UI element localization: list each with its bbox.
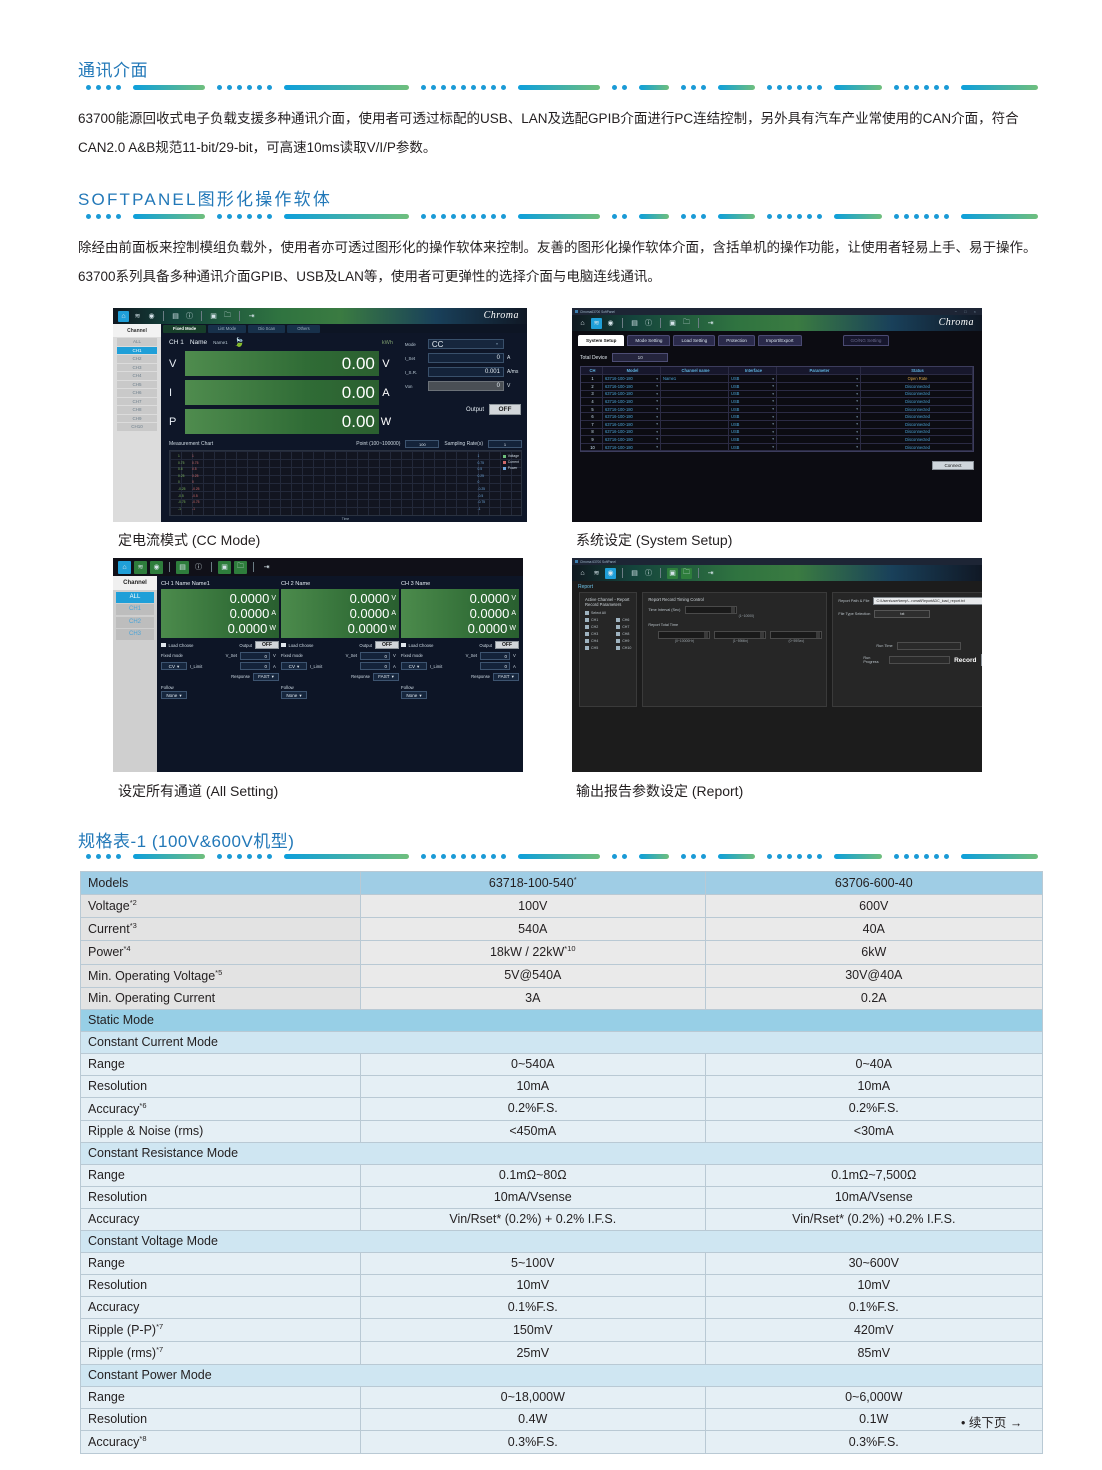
ss-table-row[interactable]: 463716-100-180▾USB▾▾Disconnected (581, 398, 973, 406)
as-vset-input[interactable]: 0 (360, 652, 390, 660)
spec-row-sub: Ripple (rms)*725mV85mV (81, 1342, 1043, 1365)
ss-cell-status[interactable]: Disconnected (861, 444, 973, 451)
spec-row-label: Range (81, 1053, 361, 1075)
report-icon[interactable]: ▤ (629, 318, 640, 329)
chevron-down-icon[interactable]: ▾ (772, 430, 774, 434)
divider-dot (701, 214, 706, 219)
chevron-down-icon[interactable]: ▾ (856, 377, 858, 381)
ss-cell-name[interactable] (661, 429, 729, 436)
ss-cell-parameter[interactable]: ▾ (777, 421, 861, 428)
ss-cell-parameter[interactable]: ▾ (777, 444, 861, 451)
spec-row-label: Resolution (81, 1186, 361, 1208)
ss-tab-load-setting[interactable]: Load Setting (673, 335, 715, 346)
chevron-down-icon[interactable]: ▾ (656, 445, 658, 449)
ss-cell-status[interactable]: Disconnected (861, 436, 973, 443)
globe-icon[interactable]: ◉ (605, 568, 616, 579)
chevron-down-icon[interactable]: ▾ (656, 384, 658, 388)
as-response-select[interactable]: FAST ▾ (493, 673, 519, 681)
info-icon[interactable]: ⓘ (643, 318, 654, 329)
cc-tab-fixed-mode[interactable]: Fixed Mode (163, 325, 206, 333)
checkbox-icon[interactable] (401, 643, 406, 648)
divider-dot (691, 214, 696, 219)
divider-dot (767, 214, 772, 219)
as-sidebar-item-ch1[interactable]: CH1 (116, 604, 154, 615)
divider-dot (471, 854, 476, 859)
ss-connect-button[interactable]: Connect (932, 461, 974, 470)
divider-dash (133, 85, 205, 90)
divider-dot (257, 214, 262, 219)
spinner-arrows[interactable] (760, 632, 764, 638)
chevron-down-icon[interactable]: ▾ (772, 399, 774, 403)
chevron-down-icon[interactable]: ▾ (656, 430, 658, 434)
globe-icon[interactable]: ◉ (146, 311, 157, 322)
cc-sidebar-item-ch10[interactable]: CH10 (117, 423, 157, 431)
ss-cell-ch[interactable]: 10 (581, 444, 603, 451)
ss-cell-interface[interactable]: USB▾ (729, 406, 777, 413)
ss-cell-model[interactable]: 63716-100-180▾ (603, 375, 661, 382)
ss-table-row[interactable]: 763716-100-180▾USB▾▾Disconnected (581, 421, 973, 429)
rp-total-time-spinner[interactable] (658, 631, 710, 639)
spinner-arrows[interactable] (731, 607, 735, 613)
ss-cell-name[interactable]: Name1 (661, 375, 729, 382)
chevron-down-icon[interactable]: ▾ (656, 407, 658, 411)
cc-field-unit: V (507, 383, 523, 389)
ss-cell-ch[interactable]: 6 (581, 413, 603, 420)
chevron-down-icon[interactable]: ▾ (512, 673, 514, 680)
as-follow-label: Follow (161, 685, 279, 690)
save-icon[interactable]: ▣ (667, 568, 678, 579)
spec-row-sub: Resolution10mA10mA (81, 1075, 1043, 1097)
ss-cell-name[interactable] (661, 444, 729, 451)
rp-channel-checkbox-ch2[interactable]: CH2 (585, 625, 598, 629)
chevron-down-icon[interactable]: ▾ (179, 692, 181, 699)
ss-cell-parameter[interactable]: ▾ (777, 406, 861, 413)
chevron-down-icon[interactable]: ▾ (656, 392, 658, 396)
ss-cell-model[interactable]: 63716-100-180▾ (603, 444, 661, 451)
as-mode-select[interactable]: CV ▾ (401, 662, 427, 670)
ss-table-row[interactable]: 163716-100-180▾Name1USB▾▾Open Rate (581, 375, 973, 383)
rp-panels: Active Channel - Report Record Parameter… (572, 592, 982, 707)
as-body: Channel ALLCH1CH2CH3 CH 1 Name Name10.00… (113, 576, 523, 772)
ss-table-row[interactable]: 963716-100-180▾USB▾▾Disconnected (581, 436, 973, 444)
checkbox-icon[interactable] (161, 643, 166, 648)
cc-tab-dio-scan[interactable]: Dio Scan (248, 325, 285, 333)
checkbox-icon[interactable] (281, 643, 286, 648)
ss-cell-ch[interactable]: 5 (581, 406, 603, 413)
chevron-down-icon[interactable]: ▾ (772, 445, 774, 449)
window-controls[interactable]: − □ × (955, 309, 979, 314)
divider-dot (471, 214, 476, 219)
as-reading-unit: W (269, 621, 276, 636)
chevron-down-icon[interactable]: ▾ (297, 663, 299, 670)
ss-cell-model[interactable]: 63716-100-180▾ (603, 413, 661, 420)
ss-cell-interface[interactable]: USB▾ (729, 375, 777, 382)
ss-cell-status[interactable]: Disconnected (861, 391, 973, 398)
rp-total-time-spinner[interactable] (770, 631, 822, 639)
ss-cell-interface[interactable]: USB▾ (729, 444, 777, 451)
ss-table-row[interactable]: 863716-100-180▾USB▾▾Disconnected (581, 429, 973, 437)
rp-channel-label: CH1 (591, 618, 598, 622)
folder-icon[interactable]: 🗀 (681, 568, 692, 579)
rp-record-toggle[interactable]: OFF (981, 654, 983, 666)
ss-cell-status[interactable]: Disconnected (861, 383, 973, 390)
cc-chart-title: Measurement Chart (169, 441, 213, 447)
as-output-toggle[interactable]: OFF (495, 641, 519, 649)
ss-table-row[interactable]: 263716-100-180▾USB▾▾Disconnected (581, 383, 973, 391)
as-vset-unit: V (393, 653, 399, 658)
rp-channel-checkbox-ch9[interactable]: CH9 (616, 639, 631, 643)
divider-dot (797, 854, 802, 859)
chevron-down-icon[interactable]: ▾ (772, 384, 774, 388)
rp-select-all-checkbox[interactable]: Select All (585, 611, 631, 615)
as-sidebar-item-ch2[interactable]: CH2 (116, 617, 154, 628)
rp-time-interval-spinner[interactable] (685, 606, 737, 614)
ss-cell-name[interactable] (661, 421, 729, 428)
ss-cell-parameter[interactable]: ▾ (777, 391, 861, 398)
ss-cell-ch[interactable]: 2 (581, 383, 603, 390)
as-follow-select[interactable]: None ▾ (281, 691, 307, 699)
rp-total-time-group: (0~59Sec) (770, 631, 822, 643)
ss-cell-parameter[interactable]: ▾ (777, 436, 861, 443)
rp-path-input[interactable]: C:\Users\user\temp\...romal\ReportADC_lo… (873, 597, 982, 605)
screenshot-report: Chroma 63700 SoftPanel ⌂ ≋ ◉ ▤ ⓘ ▣ 🗀 ⇥ R… (572, 558, 982, 772)
chevron-down-icon[interactable]: ▾ (419, 692, 421, 699)
spec-value-model-1: 5~100V (361, 1252, 706, 1274)
ss-table-row[interactable]: 1063716-100-180▾USB▾▾Disconnected (581, 444, 973, 452)
ss-cell-model[interactable]: 63716-100-180▾ (603, 383, 661, 390)
ss-cell-name[interactable] (661, 406, 729, 413)
chevron-down-icon[interactable]: ▾ (656, 422, 658, 426)
cc-axis-tick: -0.25 (477, 486, 485, 493)
divider-dot (491, 214, 496, 219)
divider-1 (78, 84, 1042, 90)
checkbox-icon (585, 632, 589, 636)
chevron-down-icon[interactable]: ▾ (392, 673, 394, 680)
cc-sidebar-item-ch2[interactable]: CH2 (117, 355, 157, 363)
cc-meter-unit: A (379, 387, 393, 399)
home-icon[interactable]: ⌂ (577, 568, 588, 579)
rp-total-time-spinner[interactable] (714, 631, 766, 639)
ss-cell-status[interactable]: Disconnected (861, 398, 973, 405)
ss-cell-model[interactable]: 63716-100-180▾ (603, 391, 661, 398)
save-icon[interactable]: ▣ (208, 311, 219, 322)
as-mode-select[interactable]: CV ▾ (161, 662, 187, 670)
cc-output-toggle[interactable]: OFF (489, 404, 521, 415)
folder-icon[interactable]: 🗀 (681, 318, 692, 329)
chevron-down-icon[interactable]: ▾ (856, 384, 858, 388)
spec-row-sub: Resolution10mV10mV (81, 1274, 1043, 1296)
cc-meter-label: V (169, 358, 185, 370)
ss-tab-import-export[interactable]: Import/Export (758, 335, 802, 346)
ss-cell-status[interactable]: Disconnected (861, 429, 973, 436)
ss-cell-status-text: Open Rate (908, 376, 928, 381)
ss-tab-mode-setting[interactable]: Mode Setting (627, 335, 670, 346)
ss-cell-name[interactable] (661, 391, 729, 398)
cc-tab-list-mode[interactable]: List Mode (208, 325, 246, 333)
divider-dot (777, 854, 782, 859)
globe-icon[interactable]: ◉ (605, 318, 616, 329)
cc-plot[interactable]: 10.750.50.250-0.25-0.5-0.75-1 10.750.50.… (169, 450, 522, 516)
ss-cell-parameter[interactable]: ▾ (777, 383, 861, 390)
wave-icon[interactable]: ≋ (591, 318, 602, 329)
rp-channel-checkbox-ch8[interactable]: CH8 (616, 632, 631, 636)
divider-dot (612, 214, 617, 219)
divider-dash (518, 85, 600, 90)
chevron-down-icon[interactable]: ▾ (856, 407, 858, 411)
divider-dot (257, 854, 262, 859)
spec-value-model-2: 10mA/Vsense (705, 1186, 1042, 1208)
cc-sidebar-item-ch4[interactable]: CH4 (117, 372, 157, 380)
checkbox-icon (616, 625, 620, 629)
ss-total-device-select[interactable]: 10 (612, 353, 668, 362)
ss-cell-model[interactable]: 63716-100-180▾ (603, 406, 661, 413)
ss-cell-status[interactable]: Disconnected (861, 406, 973, 413)
divider-dash (961, 214, 1038, 219)
spec-value-model-2: 10mV (705, 1274, 1042, 1296)
chevron-down-icon[interactable]: ▾ (772, 407, 774, 411)
divider-dot (934, 214, 939, 219)
ss-total-device-row: Total Device 10 (572, 346, 982, 366)
ss-cell-name[interactable] (661, 436, 729, 443)
chevron-down-icon[interactable]: ▾ (496, 340, 498, 349)
info-icon[interactable]: ⓘ (643, 568, 654, 579)
as-follow-select[interactable]: None ▾ (401, 691, 427, 699)
as-mode-select[interactable]: CV ▾ (281, 662, 307, 670)
cc-sidebar-item-ch6[interactable]: CH6 (117, 389, 157, 397)
chevron-down-icon[interactable]: ▾ (856, 422, 858, 426)
chevron-down-icon[interactable]: ▾ (772, 422, 774, 426)
home-icon[interactable]: ⌂ (118, 311, 129, 322)
save-icon[interactable]: ▣ (218, 561, 231, 574)
ss-cell-parameter[interactable]: ▾ (777, 398, 861, 405)
spec-row-label: Current*3 (81, 918, 361, 941)
rp-channel-checkbox-ch7[interactable]: CH7 (616, 625, 631, 629)
chevron-down-icon[interactable]: ▾ (772, 377, 774, 381)
spec-value-model-2: Vin/Rset* (0.2%) +0.2% I.F.S. (705, 1208, 1042, 1230)
as-response-select[interactable]: FAST ▾ (253, 673, 279, 681)
cc-field-input[interactable]: 0 (428, 353, 504, 363)
cc-meter-bar: 0.00 (185, 380, 379, 405)
as-vset-input[interactable]: 0 (240, 652, 270, 660)
report-icon[interactable]: ▤ (176, 561, 189, 574)
cc-meter-bar: 0.00 (185, 351, 379, 376)
as-output-toggle[interactable]: OFF (255, 641, 279, 649)
divider-dot (421, 854, 426, 859)
as-follow-select[interactable]: None ▾ (161, 691, 187, 699)
rp-channel-checkbox-ch1[interactable]: CH1 (585, 618, 598, 622)
divider-dot (807, 214, 812, 219)
divider-dots (894, 85, 949, 90)
chevron-down-icon[interactable]: ▾ (856, 430, 858, 434)
chevron-down-icon[interactable]: ▾ (656, 415, 658, 419)
ss-cell-parameter[interactable]: ▾ (777, 375, 861, 382)
ss-tab-system-setup[interactable]: System Setup (578, 335, 624, 346)
chevron-down-icon[interactable]: ▾ (856, 445, 858, 449)
spinner-arrows[interactable] (816, 632, 820, 638)
wave-icon[interactable]: ≋ (132, 311, 143, 322)
ss-cell-ch[interactable]: 7 (581, 421, 603, 428)
folder-icon[interactable]: 🗀 (222, 311, 233, 322)
as-ilimit-input[interactable]: 0 (240, 662, 270, 670)
logout-icon[interactable]: ⇥ (246, 311, 257, 322)
ss-cell-model[interactable]: 63716-100-180▾ (603, 398, 661, 405)
as-ilimit-input[interactable]: 0 (360, 662, 390, 670)
divider-dots (894, 854, 949, 859)
divider-2 (78, 213, 1042, 219)
as-reading-value: 0.0000 (350, 606, 390, 621)
report-icon[interactable]: ▤ (170, 311, 181, 322)
folder-icon[interactable]: 🗀 (234, 561, 247, 574)
divider-dots (767, 854, 822, 859)
ss-cell-interface[interactable]: USB▾ (729, 436, 777, 443)
chevron-down-icon[interactable]: ▾ (856, 399, 858, 403)
chevron-down-icon[interactable]: ▾ (656, 377, 658, 381)
as-channel-column: CH 3 Name0.0000V0.0000A0.0000WLoad Choos… (401, 581, 519, 699)
spec-value-model-1: 100V (361, 895, 706, 918)
spec-section-label: Constant Current Mode (81, 1031, 1043, 1053)
ss-tab-protection[interactable]: Protection (718, 335, 755, 346)
ss-tab-gong-setting[interactable]: GO/NG Setting (843, 335, 890, 346)
ss-cell-model[interactable]: 63716-100-180▾ (603, 436, 661, 443)
ss-cell-parameter[interactable]: ▾ (777, 429, 861, 436)
ss-cell-ch[interactable]: 1 (581, 375, 603, 382)
chevron-down-icon[interactable]: ▾ (299, 692, 301, 699)
chevron-down-icon[interactable]: ▾ (656, 437, 658, 441)
home-icon[interactable]: ⌂ (118, 561, 131, 574)
logout-icon[interactable]: ⇥ (705, 568, 716, 579)
rp-channel-checkbox-ch5[interactable]: CH5 (585, 646, 598, 650)
ss-cell-ch[interactable]: 4 (581, 398, 603, 405)
as-sidebar-item-all[interactable]: ALL (116, 592, 154, 603)
as-reading-row: 0.0000W (284, 621, 396, 636)
cc-sidebar-item-ch3[interactable]: CH3 (117, 364, 157, 372)
ss-cell-model[interactable]: 63716-100-180▾ (603, 429, 661, 436)
home-icon[interactable]: ⌂ (577, 318, 588, 329)
cc-sidebar-item-ch1[interactable]: CH1 (117, 347, 157, 355)
chevron-down-icon[interactable]: ▾ (856, 437, 858, 441)
cc-sidebar-item-ch8[interactable]: CH8 (117, 406, 157, 414)
chevron-down-icon[interactable]: ▾ (856, 415, 858, 419)
rp-progress-label: Run Progress (863, 656, 885, 664)
info-icon[interactable]: ⓘ (184, 311, 195, 322)
cc-sampling-input[interactable]: 1 (488, 440, 522, 448)
divider-dot (461, 85, 466, 90)
ss-cell-model[interactable]: 63716-100-180▾ (603, 421, 661, 428)
checkbox-icon (616, 632, 620, 636)
spec-value-model-2: 0.2A (705, 987, 1042, 1009)
cc-sidebar-item-all[interactable]: ALL (117, 338, 157, 346)
divider-dot (227, 854, 232, 859)
cc-sidebar-item-ch7[interactable]: CH7 (117, 398, 157, 406)
ss-cell-name[interactable] (661, 398, 729, 405)
ss-table-row[interactable]: 563716-100-180▾USB▾▾Disconnected (581, 406, 973, 414)
ss-cell-interface-text: USB (731, 399, 739, 404)
logout-icon[interactable]: ⇥ (705, 318, 716, 329)
chevron-down-icon[interactable]: ▾ (772, 392, 774, 396)
rp-channel-checkbox-ch10[interactable]: CH10 (616, 646, 631, 650)
as-response-select[interactable]: FAST ▾ (373, 673, 399, 681)
rp-total-time-hint: (0~59Sec) (770, 639, 822, 643)
chevron-down-icon[interactable]: ▾ (417, 663, 419, 670)
chevron-down-icon[interactable]: ▾ (772, 437, 774, 441)
divider-dot (421, 85, 426, 90)
spec-value-model-1: 10mA (361, 1075, 706, 1097)
ss-table-row[interactable]: 363716-100-180▾USB▾▾Disconnected (581, 391, 973, 399)
spec-row-sub: Range5~100V30~600V (81, 1252, 1043, 1274)
cc-sidebar-item-ch9[interactable]: CH9 (117, 415, 157, 423)
ss-cell-status[interactable]: Disconnected (861, 413, 973, 420)
ss-table-row[interactable]: 663716-100-180▾USB▾▾Disconnected (581, 413, 973, 421)
cc-mode-select[interactable]: CC▾ (428, 339, 504, 349)
ss-cell-interface[interactable]: USB▾ (729, 391, 777, 398)
ss-cell-name[interactable] (661, 383, 729, 390)
wave-icon[interactable]: ≋ (591, 568, 602, 579)
chevron-down-icon[interactable]: ▾ (177, 663, 179, 670)
chevron-down-icon[interactable]: ▾ (656, 399, 658, 403)
rp-active-channel-panel: Active Channel - Report Record Parameter… (579, 592, 637, 707)
rp-channel-checkbox-ch3[interactable]: CH3 (585, 632, 598, 636)
toolbar-divider (660, 318, 661, 328)
cc-chart-header: Measurement Chart Point (100~100000) 100… (169, 440, 522, 448)
ss-cell-ch[interactable]: 9 (581, 436, 603, 443)
cc-tab-others[interactable]: Others (287, 325, 320, 333)
divider-dot (691, 854, 696, 859)
ss-cell-interface[interactable]: USB▾ (729, 398, 777, 405)
chevron-down-icon[interactable]: ▾ (772, 415, 774, 419)
wave-icon[interactable]: ≋ (134, 561, 147, 574)
cc-field-input[interactable]: 0 (428, 381, 504, 391)
ss-cell-interface[interactable]: USB▾ (729, 413, 777, 420)
as-ilimit-input[interactable]: 0 (480, 662, 510, 670)
as-sidebar-item-ch3[interactable]: CH3 (116, 629, 154, 640)
divider-dots (217, 85, 272, 90)
ss-cell-name[interactable] (661, 413, 729, 420)
cc-legend-item[interactable]: Power (503, 465, 519, 471)
rp-filetype-select[interactable]: txt (874, 610, 930, 618)
cc-sidebar-item-ch5[interactable]: CH5 (117, 381, 157, 389)
chevron-down-icon[interactable]: ▾ (856, 392, 858, 396)
divider-dot (96, 214, 101, 219)
ss-cell-interface[interactable]: USB▾ (729, 421, 777, 428)
ss-cell-interface[interactable]: USB▾ (729, 383, 777, 390)
spinner-arrows[interactable] (704, 632, 708, 638)
rp-channel-checkbox-ch6[interactable]: CH6 (616, 618, 631, 622)
ss-cell-ch[interactable]: 8 (581, 429, 603, 436)
divider-dot (237, 85, 242, 90)
as-output-toggle[interactable]: OFF (375, 641, 399, 649)
ss-cell-interface[interactable]: USB▾ (729, 429, 777, 436)
as-reading-value: 0.0000 (228, 621, 268, 636)
as-vset-input[interactable]: 0 (480, 652, 510, 660)
ss-cell-parameter[interactable]: ▾ (777, 413, 861, 420)
rp-channel-checkbox-ch4[interactable]: CH4 (585, 639, 598, 643)
save-icon[interactable]: ▣ (667, 318, 678, 329)
cc-field-input[interactable]: 0.001 (428, 367, 504, 377)
logout-icon[interactable]: ⇥ (260, 561, 273, 574)
report-icon[interactable]: ▤ (629, 568, 640, 579)
ss-cell-status[interactable]: Open Rate (861, 375, 973, 382)
ss-cell-ch[interactable]: 3 (581, 391, 603, 398)
info-icon[interactable]: ⓘ (192, 561, 205, 574)
globe-icon[interactable]: ◉ (150, 561, 163, 574)
divider-dash (834, 85, 882, 90)
ss-cell-status[interactable]: Disconnected (861, 421, 973, 428)
cc-point-input[interactable]: 100 (405, 440, 439, 448)
ss-table-header: CHModelChannel nameInterfaceParameterSta… (581, 367, 973, 375)
cc-main: Fixed ModeList ModeDio ScanOthers CH 1 N… (161, 324, 527, 522)
ss-column-header: Parameter (777, 367, 861, 374)
chevron-down-icon[interactable]: ▾ (272, 673, 274, 680)
